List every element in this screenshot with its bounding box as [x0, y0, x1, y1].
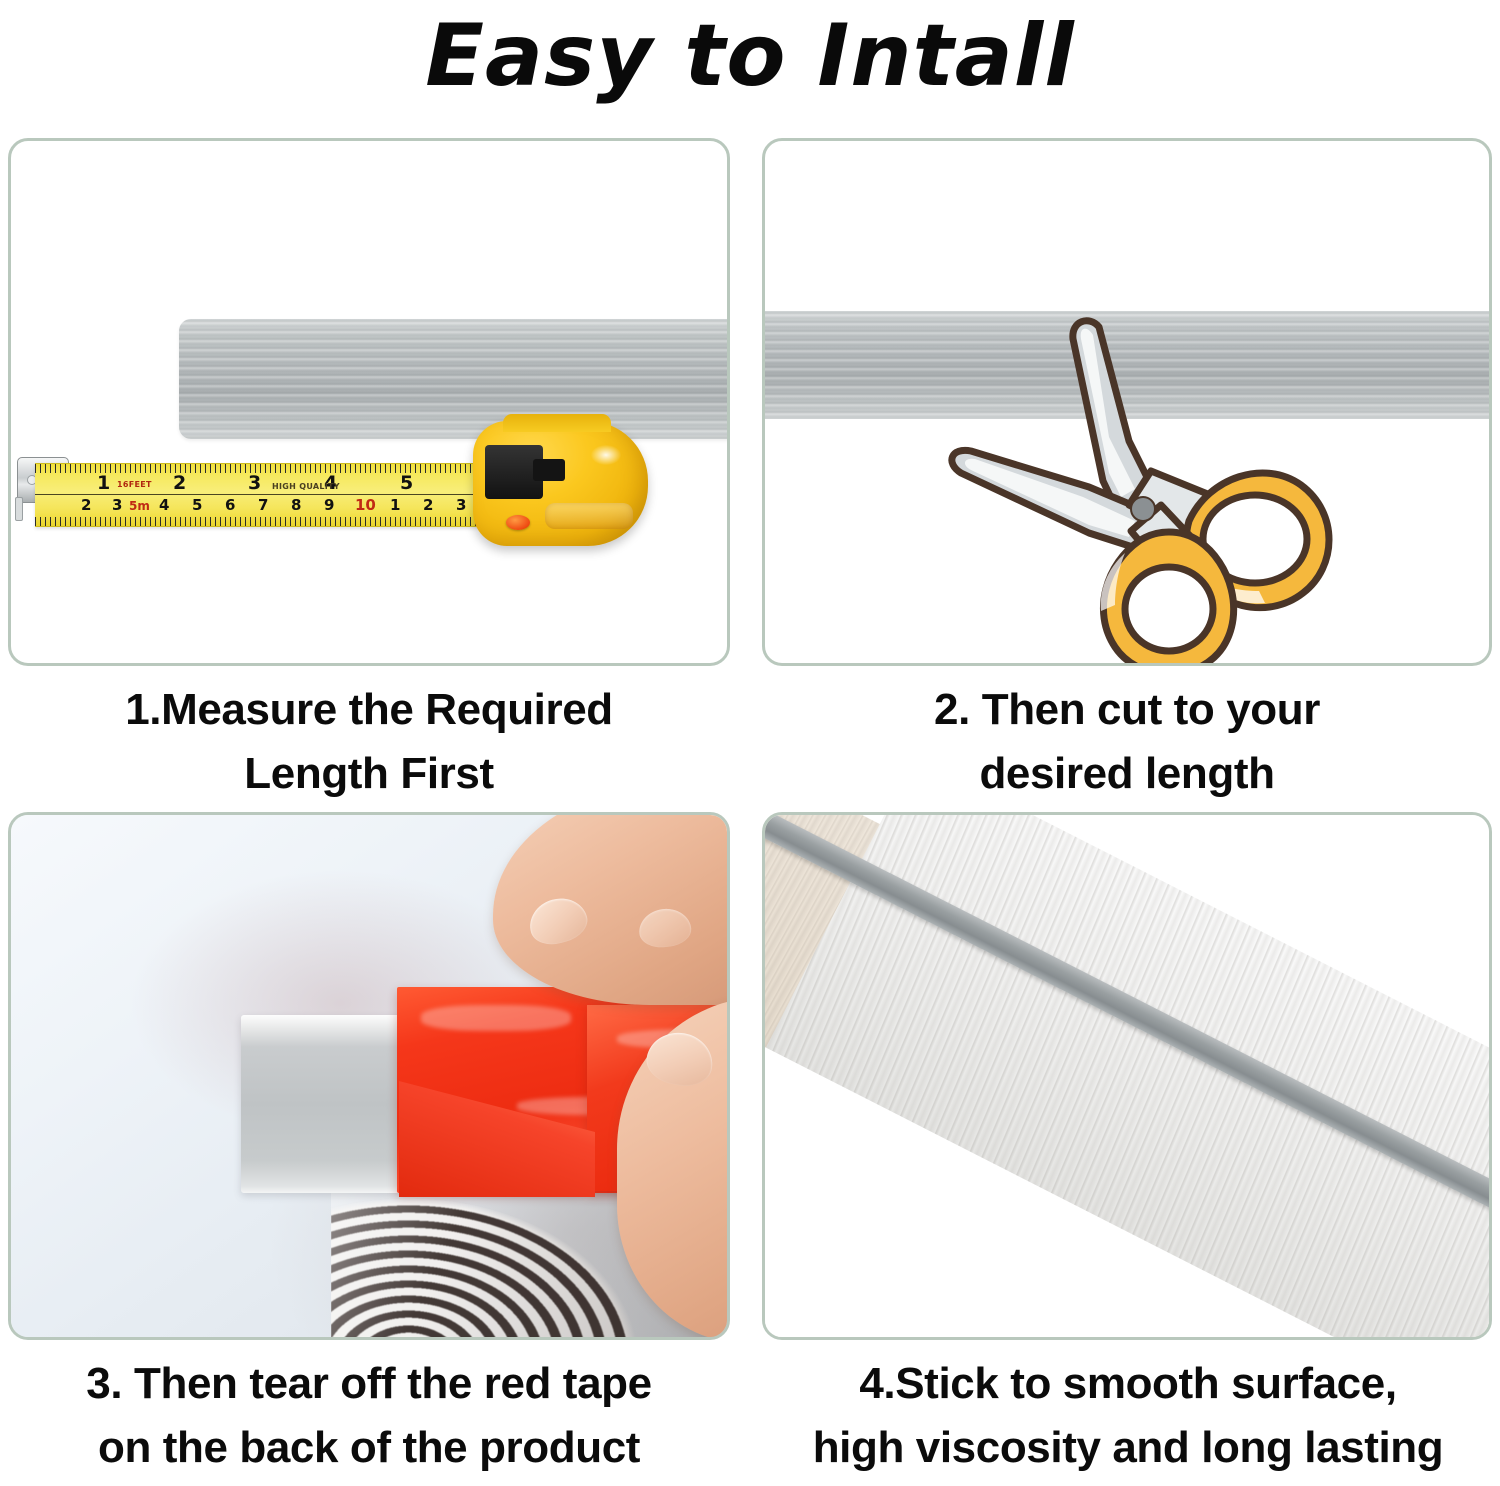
tape-retract-button-icon [506, 515, 530, 530]
caption-3-line-1: 3. Then tear off the red tape [86, 1359, 651, 1408]
caption-2-line-1: 2. Then cut to your [934, 685, 1320, 734]
caption-cut-step: 2. Then cut to your desired length [762, 678, 1492, 806]
tape-cm-11: 1 [390, 497, 400, 513]
trim-strip-photo [179, 319, 730, 439]
tape-ticks-bottom [35, 517, 517, 526]
tape-inch-5: 5 [400, 473, 413, 493]
tape-cm-6: 6 [225, 497, 235, 513]
caption-3-line-2: on the back of the product [0, 1416, 738, 1480]
caption-1-line-1: 1.Measure the Required [125, 685, 613, 734]
tape-case-top-icon [503, 414, 611, 432]
tape-case-label [545, 503, 633, 529]
tape-label-16feet: 16FEET [117, 480, 152, 489]
caption-measure-step: 1.Measure the Required Length First [8, 678, 730, 806]
tape-cm-12: 2 [423, 497, 433, 513]
tape-cm-3: 3 [112, 497, 122, 513]
tape-cm-4: 4 [159, 497, 169, 513]
caption-peel-step: 3. Then tear off the red tape on the bac… [0, 1352, 738, 1480]
tape-cm-10: 10 [355, 497, 376, 513]
tape-center-line [35, 494, 517, 495]
page-title: Easy to Intall [0, 4, 1500, 108]
tape-cm-8: 8 [291, 497, 301, 513]
tape-label-5m: 5m [129, 498, 150, 514]
scissors-icon [893, 291, 1393, 666]
tape-hook-tab-icon [15, 497, 23, 521]
panel-stick-step [762, 812, 1492, 1340]
panel-peel-step [8, 812, 730, 1340]
caption-1-line-2: Length First [8, 742, 730, 806]
tape-case-highlight [591, 445, 621, 465]
thumbnail-upper [524, 892, 592, 950]
tape-cm-7: 7 [258, 497, 268, 513]
tape-lock-arm-icon [533, 459, 565, 481]
fingernail-upper-2 [637, 906, 693, 949]
caption-4-line-1: 4.Stick to smooth surface, [859, 1359, 1396, 1408]
tape-cm-2: 2 [81, 497, 91, 513]
tape-cm-9: 9 [324, 497, 334, 513]
panel-cut-step [762, 138, 1492, 666]
red-film-highlight-1 [421, 1005, 571, 1031]
tape-inch-1: 1 [97, 473, 110, 493]
tape-label-highquality: HIGH QUALITY [272, 482, 340, 491]
caption-2-line-2: desired length [762, 742, 1492, 806]
tape-cm-13: 3 [456, 497, 466, 513]
tape-inch-2: 2 [173, 473, 186, 493]
panel-measure-step: 1 2 3 4 5 6 16FEET HIGH QUALITY 2 3 5m 4… [8, 138, 730, 666]
tape-measure-blade: 1 2 3 4 5 6 16FEET HIGH QUALITY 2 3 5m 4… [35, 463, 517, 527]
tape-lock-lever-icon [485, 445, 543, 499]
tape-cm-5: 5 [192, 497, 202, 513]
caption-stick-step: 4.Stick to smooth surface, high viscosit… [756, 1352, 1500, 1480]
tape-measure-case [473, 421, 648, 546]
tape-inch-3: 3 [248, 473, 261, 493]
caption-4-line-2: high viscosity and long lasting [756, 1416, 1500, 1480]
